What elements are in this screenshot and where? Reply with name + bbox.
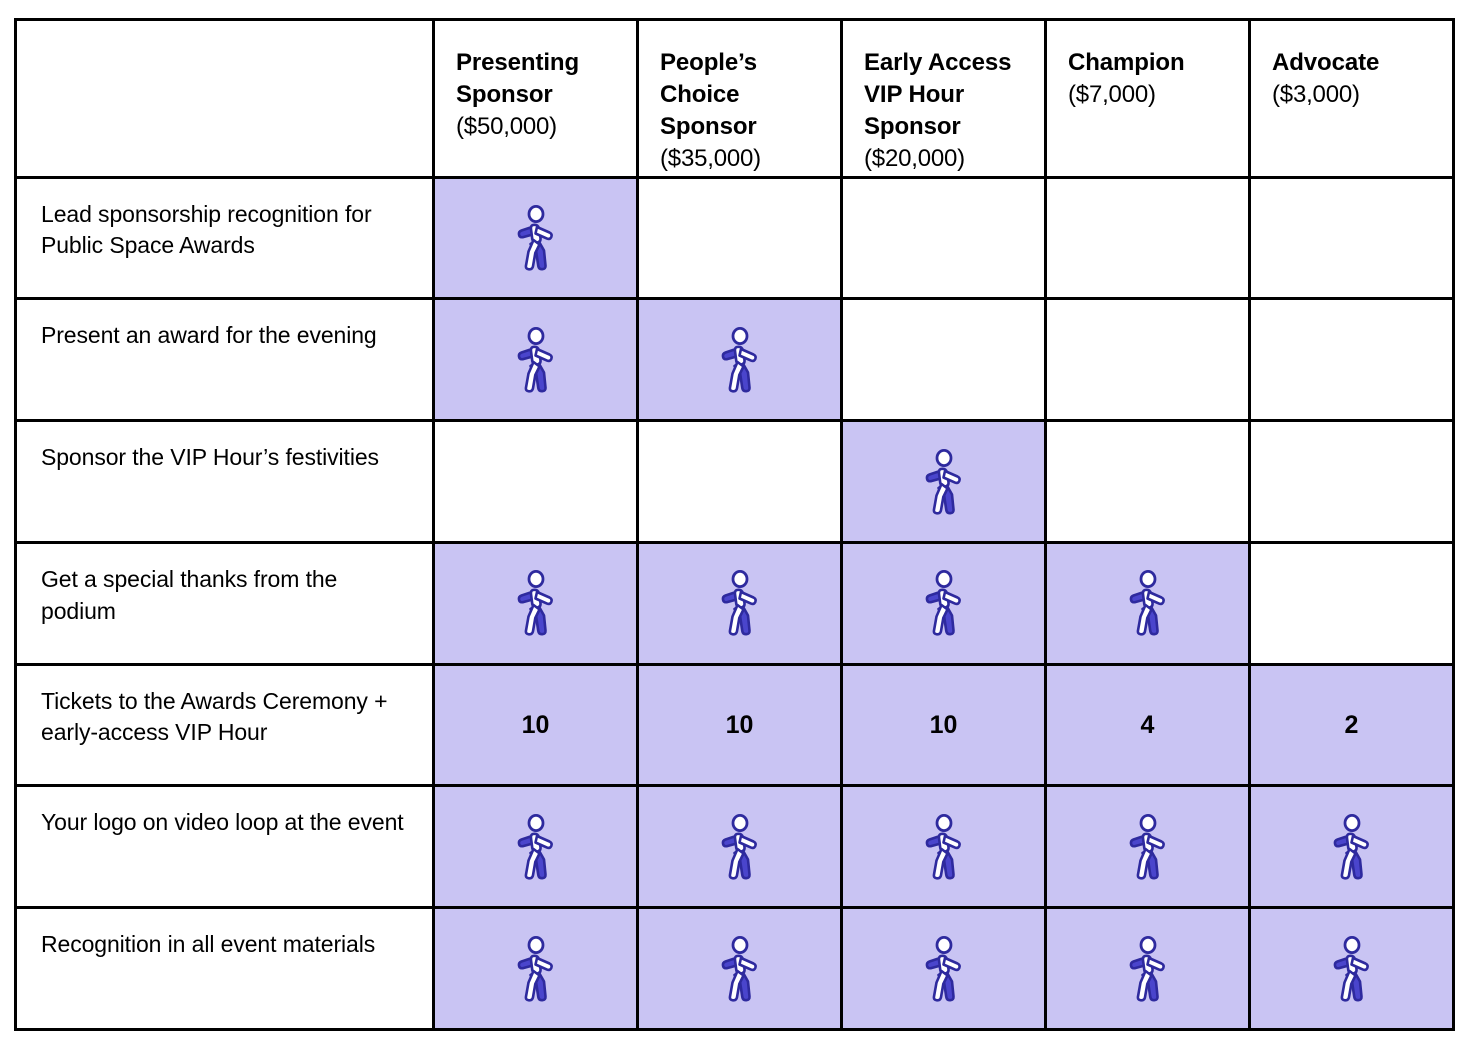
pedestrian-icon: [716, 812, 764, 882]
cell-inner: [1047, 422, 1248, 541]
tier-name: Champion: [1068, 47, 1236, 79]
table-row: Tickets to the Awards Ceremony + early-a…: [16, 664, 1454, 786]
tier-name: Early Access VIP Hour Sponsor: [864, 47, 1032, 143]
benefit-label: Your logo on video loop at the event: [17, 787, 432, 839]
benefit-cell-r6-c5: [1250, 786, 1454, 908]
tier-price: ($7,000): [1068, 79, 1236, 111]
cell-inner: [435, 909, 636, 1028]
cell-inner: [843, 787, 1044, 906]
pedestrian-icon: [1328, 812, 1376, 882]
benefit-cell-r5-c4: 4: [1046, 664, 1250, 786]
tier-price: ($50,000): [456, 111, 624, 143]
table-body: Lead sponsorship recognition for Public …: [16, 177, 1454, 1029]
cell-inner: [1251, 909, 1452, 1028]
benefit-cell-r1-c5: [1250, 177, 1454, 299]
table-row: Sponsor the VIP Hour’s festivities: [16, 421, 1454, 543]
table-title-cell: Sponsorship Benefits: [16, 20, 434, 178]
benefit-cell-r2-c4: [1046, 299, 1250, 421]
pedestrian-icon: [920, 568, 968, 638]
cell-inner: [843, 544, 1044, 663]
benefit-cell-r1-c3: [842, 177, 1046, 299]
benefit-label-cell-your-logo-on-video-loop-at-the-event: Your logo on video loop at the event: [16, 786, 434, 908]
pedestrian-icon: [1328, 934, 1376, 1004]
table-row: Get a special thanks from the podium: [16, 542, 1454, 664]
tier-header-peoples-choice-sponsor: People’s Choice Sponsor ($35,000): [638, 20, 842, 178]
table-header: Sponsorship Benefits Presenting Sponsor …: [16, 20, 1454, 178]
cell-inner: [639, 909, 840, 1028]
benefit-cell-r6-c3: [842, 786, 1046, 908]
cell-inner: [1251, 179, 1452, 298]
tier-name: Advocate: [1272, 47, 1440, 79]
cell-inner: [639, 300, 840, 419]
benefit-label: Lead sponsorship recognition for Public …: [17, 179, 432, 262]
pedestrian-icon: [716, 568, 764, 638]
benefit-label: Sponsor the VIP Hour’s festivities: [17, 422, 432, 474]
benefit-cell-r1-c2: [638, 177, 842, 299]
benefit-cell-r7-c1: [434, 908, 638, 1030]
tier-name: People’s Choice Sponsor: [660, 47, 828, 143]
ticket-count: 4: [1141, 711, 1155, 740]
benefit-label: Recognition in all event materials: [17, 909, 432, 961]
benefit-cell-r3-c3: [842, 421, 1046, 543]
cell-inner: [1251, 422, 1452, 541]
ticket-count: 10: [930, 711, 958, 740]
table-row: Your logo on video loop at the event: [16, 786, 1454, 908]
benefit-cell-r4-c2: [638, 542, 842, 664]
benefit-label: Present an award for the evening: [17, 300, 432, 352]
sponsorship-benefits-table: Sponsorship Benefits Presenting Sponsor …: [14, 18, 1455, 1031]
cell-inner: [639, 179, 840, 298]
cell-inner: [639, 787, 840, 906]
pedestrian-icon: [920, 812, 968, 882]
tier-price: ($35,000): [660, 143, 828, 175]
pedestrian-icon: [512, 203, 560, 273]
cell-inner: [1251, 787, 1452, 906]
benefit-cell-r5-c1: 10: [434, 664, 638, 786]
tier-header-inner: Advocate ($3,000): [1251, 21, 1452, 111]
benefit-cell-r2-c2: [638, 299, 842, 421]
tier-header-inner: Presenting Sponsor ($50,000): [435, 21, 636, 143]
sponsorship-benefits-table-container: Sponsorship Benefits Presenting Sponsor …: [14, 18, 1452, 1031]
benefit-cell-r4-c4: [1046, 542, 1250, 664]
tier-header-champion: Champion ($7,000): [1046, 20, 1250, 178]
tier-header-advocate: Advocate ($3,000): [1250, 20, 1454, 178]
cell-inner: [435, 787, 636, 906]
pedestrian-icon: [512, 568, 560, 638]
table-header-row: Sponsorship Benefits Presenting Sponsor …: [16, 20, 1454, 178]
ticket-count: 10: [726, 711, 754, 740]
tier-name: Presenting Sponsor: [456, 47, 624, 111]
benefit-label: Get a special thanks from the podium: [17, 544, 432, 627]
pedestrian-icon: [716, 325, 764, 395]
benefit-cell-r3-c4: [1046, 421, 1250, 543]
pedestrian-icon: [512, 934, 560, 1004]
benefit-label-cell-get-a-special-thanks-from-the-podium: Get a special thanks from the podium: [16, 542, 434, 664]
benefit-label: Tickets to the Awards Ceremony + early-a…: [17, 666, 432, 749]
cell-inner: [843, 179, 1044, 298]
benefit-cell-r3-c2: [638, 421, 842, 543]
benefit-cell-r3-c1: [434, 421, 638, 543]
benefit-cell-r1-c4: [1046, 177, 1250, 299]
tier-header-inner: Early Access VIP Hour Sponsor ($20,000): [843, 21, 1044, 176]
benefit-cell-r7-c4: [1046, 908, 1250, 1030]
benefit-cell-r4-c1: [434, 542, 638, 664]
pedestrian-icon: [512, 325, 560, 395]
cell-inner: [435, 544, 636, 663]
benefit-label-cell-present-an-award-for-the-evening: Present an award for the evening: [16, 299, 434, 421]
cell-inner: [435, 300, 636, 419]
benefit-cell-r6-c1: [434, 786, 638, 908]
benefit-label-cell-tickets-to-the-awards-ceremony-early-access-vip-: Tickets to the Awards Ceremony + early-a…: [16, 664, 434, 786]
cell-inner: [1251, 544, 1452, 663]
cell-inner: [639, 544, 840, 663]
table-row: Recognition in all event materials: [16, 908, 1454, 1030]
cell-inner: 10: [639, 666, 840, 785]
cell-inner: [435, 179, 636, 298]
benefit-label-cell-sponsor-the-vip-hour-s-festivities: Sponsor the VIP Hour’s festivities: [16, 421, 434, 543]
ticket-count: 2: [1345, 711, 1359, 740]
cell-inner: 10: [843, 666, 1044, 785]
benefit-cell-r2-c1: [434, 299, 638, 421]
pedestrian-icon: [920, 934, 968, 1004]
tier-header-presenting-sponsor: Presenting Sponsor ($50,000): [434, 20, 638, 178]
page-title: Sponsorship Benefits: [17, 21, 432, 75]
table-row: Present an award for the evening: [16, 299, 1454, 421]
tier-header-inner: People’s Choice Sponsor ($35,000): [639, 21, 840, 176]
cell-inner: [843, 909, 1044, 1028]
benefit-cell-r6-c2: [638, 786, 842, 908]
tier-price: ($20,000): [864, 143, 1032, 175]
benefit-cell-r2-c3: [842, 299, 1046, 421]
tier-header-inner: Champion ($7,000): [1047, 21, 1248, 111]
cell-inner: [1047, 787, 1248, 906]
cell-inner: [1047, 179, 1248, 298]
cell-inner: [1047, 909, 1248, 1028]
pedestrian-icon: [512, 812, 560, 882]
cell-inner: [843, 422, 1044, 541]
benefit-cell-r7-c2: [638, 908, 842, 1030]
cell-inner: [1047, 300, 1248, 419]
cell-inner: 4: [1047, 666, 1248, 785]
pedestrian-icon: [1124, 568, 1172, 638]
benefit-cell-r4-c5: [1250, 542, 1454, 664]
benefit-cell-r5-c5: 2: [1250, 664, 1454, 786]
cell-inner: [843, 300, 1044, 419]
benefit-cell-r5-c2: 10: [638, 664, 842, 786]
pedestrian-icon: [1124, 812, 1172, 882]
tier-price: ($3,000): [1272, 79, 1440, 111]
cell-inner: 2: [1251, 666, 1452, 785]
pedestrian-icon: [920, 447, 968, 517]
benefit-cell-r7-c5: [1250, 908, 1454, 1030]
cell-inner: [1047, 544, 1248, 663]
benefit-cell-r6-c4: [1046, 786, 1250, 908]
benefit-cell-r5-c3: 10: [842, 664, 1046, 786]
cell-inner: [435, 422, 636, 541]
benefit-cell-r1-c1: [434, 177, 638, 299]
pedestrian-icon: [716, 934, 764, 1004]
ticket-count: 10: [522, 711, 550, 740]
cell-inner: [1251, 300, 1452, 419]
cell-inner: 10: [435, 666, 636, 785]
benefit-label-cell-recognition-in-all-event-materials: Recognition in all event materials: [16, 908, 434, 1030]
cell-inner: [639, 422, 840, 541]
tier-header-early-access-vip-hour-sponsor: Early Access VIP Hour Sponsor ($20,000): [842, 20, 1046, 178]
pedestrian-icon: [1124, 934, 1172, 1004]
benefit-cell-r3-c5: [1250, 421, 1454, 543]
table-row: Lead sponsorship recognition for Public …: [16, 177, 1454, 299]
benefit-cell-r2-c5: [1250, 299, 1454, 421]
benefit-label-cell-lead-sponsorship-recognition-for-public-space-aw: Lead sponsorship recognition for Public …: [16, 177, 434, 299]
benefit-cell-r4-c3: [842, 542, 1046, 664]
benefit-cell-r7-c3: [842, 908, 1046, 1030]
